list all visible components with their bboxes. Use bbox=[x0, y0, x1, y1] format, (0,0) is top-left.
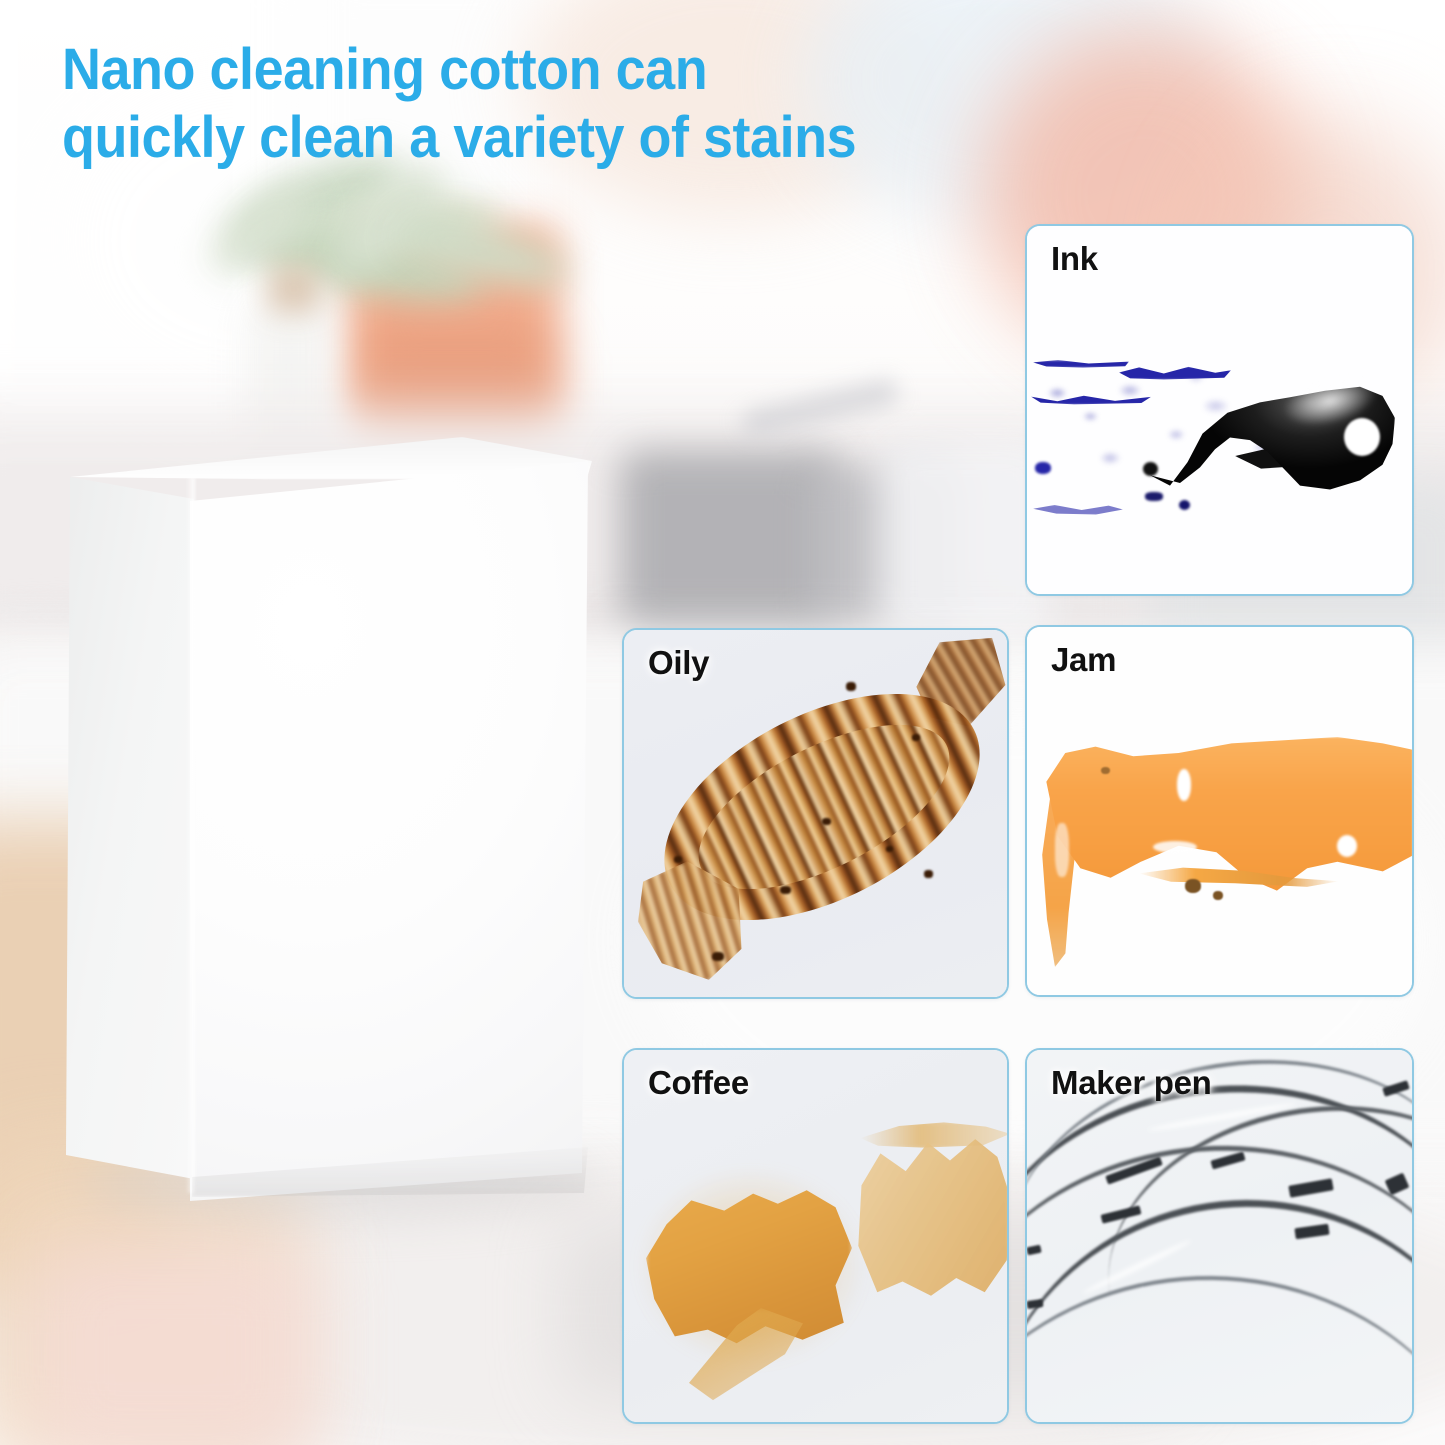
page-title: Nano cleaning cotton can quickly clean a… bbox=[62, 36, 1048, 172]
stain-card-label: Ink bbox=[1051, 240, 1098, 278]
stain-card-label: Oily bbox=[648, 644, 709, 682]
stain-card-label: Maker pen bbox=[1051, 1064, 1212, 1102]
product-sponge-image bbox=[62, 437, 592, 1197]
sponge-left-face bbox=[66, 455, 194, 1195]
coffee-stain-art bbox=[624, 1050, 1007, 1422]
stain-card-ink[interactable]: Ink bbox=[1025, 224, 1414, 596]
ink-stain-art bbox=[1027, 226, 1412, 594]
maker-pen-stain-art bbox=[1027, 1050, 1412, 1422]
stain-card-label: Coffee bbox=[648, 1064, 749, 1102]
stain-card-jam[interactable]: Jam bbox=[1025, 625, 1414, 997]
stain-card-maker-pen[interactable]: Maker pen bbox=[1025, 1048, 1414, 1424]
jam-stain-art bbox=[1027, 627, 1412, 995]
sponge-front-face bbox=[190, 461, 590, 1201]
oily-stain-art bbox=[624, 630, 1007, 997]
stain-card-oily[interactable]: Oily bbox=[622, 628, 1009, 999]
stain-card-label: Jam bbox=[1051, 641, 1116, 679]
product-feature-image: Nano cleaning cotton can quickly clean a… bbox=[0, 0, 1445, 1445]
stain-card-coffee[interactable]: Coffee bbox=[622, 1048, 1009, 1424]
